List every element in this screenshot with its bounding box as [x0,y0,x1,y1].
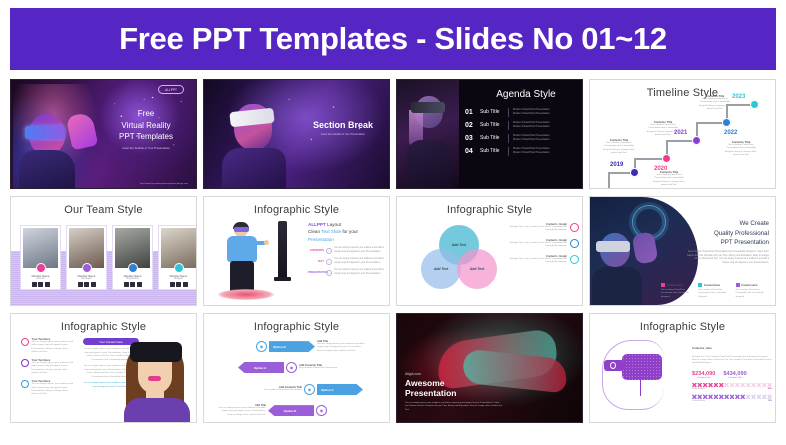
agenda-item: 04 Sub Title Modern PowerPoint Presentat… [465,147,581,156]
item-desc: You can simply impress your audience and… [334,247,384,254]
agenda-item: 02 Sub Title Modern PowerPoint Presentat… [465,121,581,130]
heading-line-1: We Create [687,219,769,229]
twitter-icon [130,282,135,287]
chevron-right-icon: › [326,270,332,276]
allppt-logo: ALLPPT [158,85,184,94]
stats-heading: Infographic Style [590,314,775,333]
role-icon [174,263,184,273]
linkedin-icon [91,282,96,287]
linkedin-icon [45,282,50,287]
amount-label: Contents Title [723,377,746,379]
agenda-heading: Agenda Style [471,89,581,100]
bar-label: Content Here [692,388,705,390]
chevron-item: ◉ Option B Add TitleYou can simply impre… [256,340,365,353]
header-banner: Free PPT Templates - Slides No 01~12 [10,8,776,70]
heading-line-3: PPT Presentation [687,238,769,248]
linkedin-icon [137,282,142,287]
infographic-heading: Infographic Style [11,314,196,333]
venn-legend-item: Contents_GraphExample Text : Get a moder… [509,223,579,233]
chevron-text: Add Contents TitleGet a modern PowerPoin… [254,386,302,392]
vr-headset-illustration [600,338,686,412]
role-icon [36,263,46,273]
slide-thumbnail-title[interactable]: ALLPPT Free Virtual Reality PPT Template… [10,79,197,189]
title-line-2: Virtual Reality [104,120,188,132]
value-row: $234,090 Contents Title $434,090 Content… [692,371,772,379]
infographic-item: TEXT › You can simply impress your audie… [308,258,384,265]
agenda-label: Sub Title [480,109,508,115]
twitter-icon [38,282,43,287]
chevron-label: Option C [317,384,363,395]
agenda-item: 01 Sub Title Modern PowerPoint Presentat… [465,108,581,117]
chevron-item: Option A ◉ Add Contents TitleGet a moder… [238,362,347,373]
bar-percent: 40% [768,388,772,390]
timeline-text: Contents Title Get a modern PowerPoint P… [698,94,732,112]
progress-bar: Content Here40% [692,383,772,391]
awesome-text-block: Allppt.com Awesome Presentation You can … [405,372,503,412]
circle-icon [21,338,29,346]
item-desc: You can simply impress your audience and… [334,269,384,276]
venn-circle-left: Add Text [421,249,461,289]
heading-line-2: Quality Professional [687,229,769,239]
venn-circle-right: Add Text [457,249,497,289]
pillar-base [274,277,291,281]
agenda-number: 03 [465,135,480,142]
cloud-icon [570,239,579,248]
brand-label: Allppt.com [405,372,503,376]
agenda-bullet: Modern PowerPoint Presentation [513,112,581,116]
infographic-item: CONTENTS › You can simply impress your a… [308,247,384,254]
agenda-label: Sub Title [480,135,508,141]
amount: $434,090 [723,371,746,377]
badge-icon: ◉ [316,405,327,416]
agenda-bullet: Modern PowerPoint Presentation [513,138,581,142]
amount: $234,090 [692,371,715,377]
slide-thumbnail-vr-stats[interactable]: Infographic Style Contents_Here Example … [589,313,776,423]
facebook-icon [32,282,37,287]
chevron-label: Option D [268,405,314,416]
role-icon [82,263,92,273]
facebook-icon [170,282,175,287]
team-heading: Our Team Style [11,197,196,216]
venn-heading: Infographic Style [397,197,582,216]
title-subtitle: Insert the Subtitle of Your Presentation [104,146,188,150]
member-role: Designer [161,278,196,280]
agenda-label: Sub Title [480,148,508,154]
venn-legend-item: Contents_GraphExample Text : Get a moder… [509,255,579,265]
marker-icon [661,283,665,287]
content-column: Content Here Get a modern PowerPoint Pre… [736,283,769,299]
footer-url: http://www.free-powerpoint-templates-des… [140,183,188,185]
facebook-icon [78,282,83,287]
title-block: Free Virtual Reality PPT Templates Inser… [104,108,188,150]
chevron-right-icon: › [326,259,332,265]
slide-thumbnail-venn[interactable]: Infographic Style Add Text Add Text Add … [396,196,583,306]
chevron-text: Add Contents TitleGet a modern PowerPoin… [299,364,347,370]
timeline-graphic: 2019 2020 2021 2022 2023 Contents Title … [590,80,775,188]
timeline-node [662,154,671,163]
badge-icon: ◉ [286,362,297,373]
timeline-year: 2023 [732,94,745,100]
content-column: Content Here Get a modern PowerPoint Pre… [698,283,731,299]
marker-icon [698,283,702,287]
twitter-icon [84,282,89,287]
we-create-text: We Create Quality Professional PPT Prese… [687,219,769,266]
vr-headset-icon [130,342,182,362]
chevron-text: Add TitleYou can simply impress your aud… [317,340,365,353]
slide-thumbnail-chevrons[interactable]: Infographic Style ◉ Option B Add TitleYo… [203,313,390,423]
chevron-text: Add TitleYou can simply impress your aud… [218,404,266,417]
avatar [23,228,58,268]
bar-percent: 79% [768,400,772,402]
title-line-3: PPT Templates [104,131,188,143]
heading-line-2: Presentation [405,388,503,399]
venn-legend: Contents_GraphExample Text : Get a moder… [509,223,579,270]
progress-bar: Content Here79% [692,394,772,402]
chevron-heading: Infographic Style [204,314,389,333]
section-title-block: Section Break Insert the Subtitle of You… [303,120,383,136]
linkedin-icon [183,282,188,287]
member-role: Developer [69,278,104,280]
infographic-item: PRESENTATION › You can simply impress yo… [308,269,384,276]
team-member-card[interactable]: Member Name Programmer [112,225,153,290]
social-icons[interactable] [115,282,150,287]
left-text-items: Your Text HereYou can simply impress you… [21,338,75,402]
item-tag: TEXT [308,260,324,263]
agenda-photo [397,80,459,188]
bar-label: Content Here [692,400,705,402]
slide-thumbnail-section-break[interactable]: Section Break Insert the Subtitle of You… [203,79,390,189]
title-line-1: Free [104,108,188,120]
chevron-item: Add Contents TitleGet a modern PowerPoin… [254,384,363,395]
facebook-icon [124,282,129,287]
agenda-bullet: Modern PowerPoint Presentation [513,151,581,155]
heading-line-1: Awesome [405,378,503,389]
vr-headset-icon [25,126,65,139]
vr-man-illustration [216,80,296,188]
team-member-card[interactable]: Member Name Designer [158,225,197,290]
content-column: Content Here Get a modern PowerPoint Pre… [661,283,694,299]
member-role: Programmer [115,278,150,280]
content-text: Example Text : Get a modern PowerPoint P… [692,356,772,366]
circle-icon [21,380,29,388]
vr-headset-icon [622,354,662,380]
agenda-number: 04 [465,148,480,155]
avatar [115,228,150,268]
infographic-text-block: ALLPPT Layout Clean Text Slide for your … [308,221,384,276]
timeline-node [630,168,639,177]
slide-thumbnail-we-create[interactable]: We Create Quality Professional PPT Prese… [589,196,776,306]
templates-preview-page: Free PPT Templates - Slides No 01~12 ALL… [0,0,786,445]
circle-icon [570,223,579,232]
woman-illustration [116,336,196,422]
venn-legend-item: Contents_GraphExample Text : Get a moder… [509,239,579,249]
icon-bar-pink [692,383,772,388]
screen-pillar [278,221,287,279]
timeline-node [722,118,731,127]
badge-icon: ◉ [256,341,267,352]
text-item: Your Text HereYou can simply impress you… [21,359,75,375]
avatar [69,228,104,268]
chevron-label: Option A [238,362,284,373]
paragraph: You can simply impress your audience and… [405,402,503,412]
value-block: $234,090 Contents Title [692,371,715,379]
vr-headset-icon [234,227,249,232]
chevron-label: Option B [269,341,315,352]
timeline-year: 2019 [610,162,623,168]
social-icons[interactable] [161,282,196,287]
text-item: Your Text HereYou can simply impress you… [21,338,75,354]
vr-person-illustration [13,84,109,188]
stats-content: Contents_Here Example Text : Get a moder… [692,336,772,406]
content-columns: Content Here Get a modern PowerPoint Pre… [661,283,769,299]
slide-thumbnail-awesome[interactable]: Allppt.com Awesome Presentation You can … [396,313,583,423]
twitter-icon [176,282,181,287]
chevron-right-icon: › [326,248,332,254]
circle-icon [21,359,29,367]
slide-thumbnail-timeline[interactable]: Timeline Style 2019 2020 [589,79,776,189]
section-heading: Section Break [303,120,383,130]
amount-label: Contents Title [692,377,715,379]
text-item: Your Text HereYou can simply impress you… [21,380,75,396]
section-subtitle: Insert the Subtitle of Your Presentation [303,133,383,136]
agenda-number: 02 [465,122,480,129]
social-icons[interactable] [69,282,104,287]
marker-icon [736,283,740,287]
agenda-list: 01 Sub Title Modern PowerPoint Presentat… [465,108,581,160]
team-member-card[interactable]: Member Name Developer [66,225,107,290]
timeline-text: Contents Title Get a modern PowerPoint P… [724,140,758,158]
slide-thumbnail-infographic-layout[interactable]: Infographic Style ALLPPT Layout Clean Te… [203,196,390,306]
badge-icon: ◉ [304,384,315,395]
chevron-item: Add TitleYou can simply impress your aud… [218,404,327,417]
value-block: $434,090 Contents Title [723,371,746,379]
slide-thumbnail-infographic-woman[interactable]: Infographic Style Your Text HereYou can … [10,313,197,423]
role-icon [128,263,138,273]
page-title: Free PPT Templates - Slides No 01~12 [119,21,667,57]
item-tag: PRESENTATION [308,271,324,274]
timeline-text: Contents Title Get a modern PowerPoint P… [602,138,636,156]
member-role: Director [23,278,58,280]
monitor-icon [570,255,579,264]
social-icons[interactable] [23,282,58,287]
slides-grid: ALLPPT Free Virtual Reality PPT Template… [10,79,776,423]
team-member-card[interactable]: Member Name Director [20,225,61,290]
avatar [161,228,196,268]
timeline-text: Contents Title Get a modern PowerPoint P… [652,170,686,188]
icon-bar-purple [692,394,772,399]
vr-headset-icon [411,102,445,113]
paragraph: Get a modern PowerPoint Presentation tha… [687,251,769,266]
agenda-number: 01 [465,109,480,116]
slide-thumbnail-agenda[interactable]: Agenda Style 01 Sub Title Modern PowerPo… [396,79,583,189]
content-title: Contents_Here [692,346,712,350]
item-tag: CONTENTS [308,249,324,252]
lead-text: ALLPPT Layout Clean Text Slide for your … [308,221,384,243]
slide-thumbnail-team[interactable]: Our Team Style Member Name Director Memb… [10,196,197,306]
timeline-year: 2022 [724,130,737,136]
timeline-node [692,136,701,145]
progress-bars: Content Here40% Content Here79% [692,383,772,403]
agenda-label: Sub Title [480,122,508,128]
item-desc: You can simply impress your audience and… [334,258,384,265]
timeline-text: Contents Title Get a modern PowerPoint P… [646,120,680,138]
agenda-bullet: Modern PowerPoint Presentation [513,125,581,129]
team-cards: Member Name Director Member Name Develop… [20,225,197,290]
agenda-item: 03 Sub Title Modern PowerPoint Presentat… [465,134,581,143]
infographic-heading: Infographic Style [204,197,389,216]
man-illustration [224,223,264,295]
vr-headset-icon [596,241,630,252]
floor-shadow [218,289,274,300]
venn-diagram: Add Text Add Text Add Text [419,225,499,293]
timeline-node [750,100,759,109]
